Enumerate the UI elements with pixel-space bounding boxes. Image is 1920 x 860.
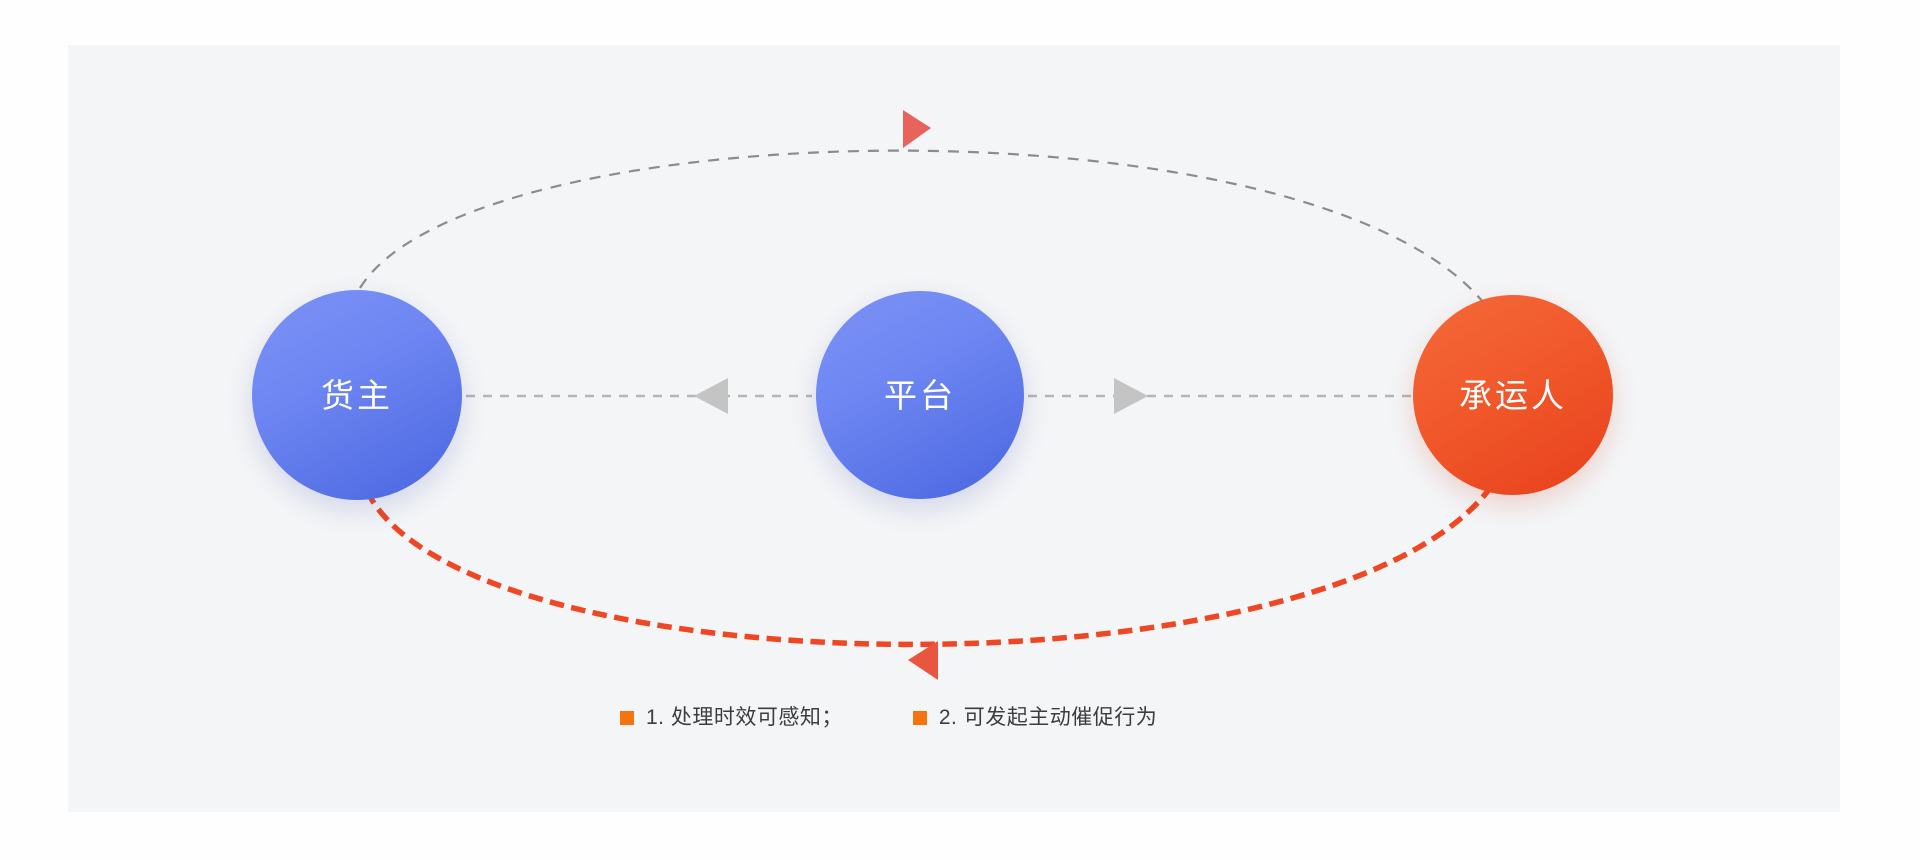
- node-platform-label: 平台: [884, 379, 956, 412]
- node-carrier[interactable]: 承运人: [1413, 295, 1613, 495]
- square-marker-icon-1: [620, 711, 634, 725]
- legend: 1. 处理时效可感知； 2. 可发起主动催促行为: [620, 707, 1157, 728]
- square-marker-icon-2: [913, 711, 927, 725]
- node-shipper[interactable]: 货主: [252, 290, 462, 500]
- legend-item-1-label: 1. 处理时效可感知；: [646, 707, 843, 728]
- legend-item-2: 2. 可发起主动催促行为: [913, 707, 1157, 728]
- node-shipper-label: 货主: [321, 379, 393, 412]
- diagram-root: 货主 平台 承运人 1. 处理时效可感知； 2. 可发起主动催促行为: [0, 0, 1920, 860]
- node-platform[interactable]: 平台: [816, 291, 1024, 499]
- node-carrier-label: 承运人: [1459, 379, 1567, 412]
- legend-item-2-label: 2. 可发起主动催促行为: [939, 707, 1157, 728]
- legend-item-1: 1. 处理时效可感知；: [620, 707, 843, 728]
